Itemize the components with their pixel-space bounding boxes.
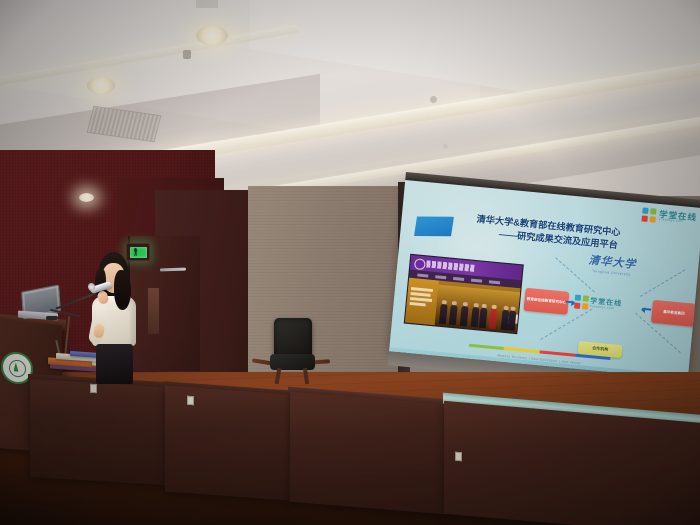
desk-latch-3: [455, 452, 462, 462]
chair-leg-right: [303, 368, 309, 384]
chair-backrest: [274, 318, 312, 358]
sprinkler-head-2: [430, 96, 437, 103]
slide-decor-quad: [414, 213, 454, 239]
tsinghua-logo: 清华大学 Tsinghua University: [575, 250, 649, 278]
diagram-box-research-center: 教育部在线教育研究中心: [523, 288, 569, 315]
chair-leg-left: [275, 368, 282, 384]
mic-stand-base: [46, 316, 58, 320]
presenter-skirt: [96, 344, 133, 384]
front-desk-1: [30, 379, 166, 485]
diagram-arrow-right: [642, 308, 651, 311]
diagram-center-brand: 学堂在线 xuetangx.com: [574, 294, 623, 312]
wall-wash-light: [79, 193, 94, 202]
diagram-box-muhua-group: 慕华教育集团: [651, 300, 697, 327]
screenshot-site-title: [426, 260, 474, 271]
slide-embedded-screenshot: [404, 254, 524, 334]
xuetangx-squares-icon: [642, 207, 657, 222]
desk-latch-1: [90, 384, 97, 393]
presenter-hair-right: [114, 270, 131, 310]
front-desk-3: [290, 392, 446, 515]
slide-surface: 学堂在线 xuetangx.com 清华大学&教育部在线教育研究中心 ——研究成…: [389, 180, 700, 379]
screenshot-sidebar: [405, 278, 439, 326]
door-glass-pane: [148, 288, 159, 334]
desk-latch-2: [187, 396, 194, 405]
projection-screen: 学堂在线 xuetangx.com 清华大学&教育部在线教育研究中心 ——研究成…: [387, 172, 700, 405]
sprinkler-head-3: [443, 144, 448, 149]
lecture-hall-photo: 学堂在线 xuetangx.com 清华大学&教育部在线教育研究中心 ——研究成…: [0, 0, 700, 525]
screenshot-site-logo-icon: [414, 258, 426, 270]
front-desk-4: [444, 401, 700, 525]
ceiling-duct: [196, 0, 218, 8]
downlight-icon-2: [87, 77, 115, 94]
screenshot-group-photo: [435, 285, 520, 334]
xuetangx-squares-icon-center: [574, 294, 589, 309]
brand-wordmark: 学堂在线 xuetangx.com: [658, 210, 697, 225]
diagram-center-wordmark: 学堂在线 xuetangx.com: [590, 298, 623, 311]
front-desk-2: [165, 385, 291, 500]
office-chair[interactable]: [268, 318, 316, 382]
sprinkler-head-1: [183, 50, 191, 59]
slide-brand-logo: 学堂在线 xuetangx.com: [642, 207, 698, 226]
downlight-icon-1: [196, 26, 228, 45]
